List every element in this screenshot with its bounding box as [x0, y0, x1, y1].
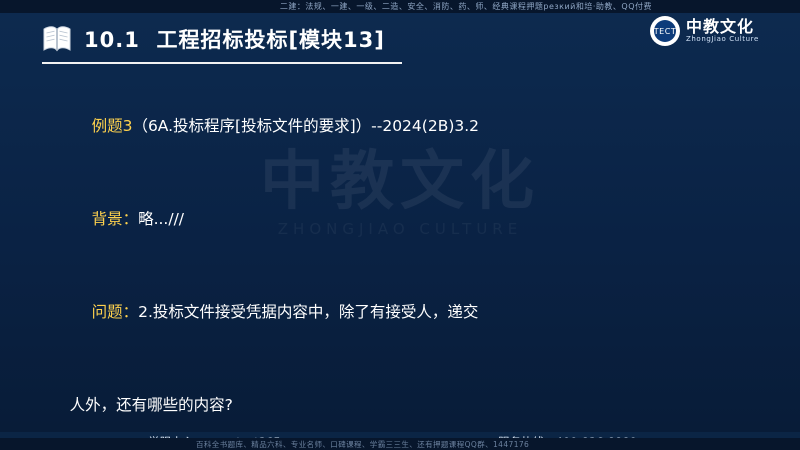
brand-logo: TECT 中教文化 ZhongJiao Culture	[650, 14, 790, 48]
background-line: 背景：略...///	[62, 173, 762, 266]
bottom-marquee-bar: 百科全书题库、精品六科、专业名师、口碑课程、学霸三三生、还有押题课程QQ群、14…	[0, 438, 800, 450]
top-marquee-bar: 二建：法规、一建、一级、二造、安全、消防、药、师、经典课程押题резкий和培·…	[0, 0, 800, 13]
background-label: 背景：	[92, 210, 139, 228]
title-label: 工程招标投标[模块13]	[156, 28, 384, 52]
example-text: （6A.投标程序[投标文件的要求]）--2024(2B)3.2	[132, 117, 479, 135]
logo-text: 中教文化 ZhongJiao Culture	[686, 19, 759, 43]
example-line: 例题3（6A.投标程序[投标文件的要求]）--2024(2B)3.2	[62, 80, 762, 173]
question-text: 2.投标文件接受凭据内容中，除了有接受人，递交	[138, 303, 478, 321]
background-text: 略...///	[138, 210, 184, 228]
title-underline	[42, 62, 402, 64]
top-marquee-text: 二建：法规、一建、一级、二造、安全、消防、药、师、经典课程押题резкий和培·…	[280, 1, 652, 12]
slide-title: 10.1 工程招标投标[模块13]	[42, 24, 385, 54]
example-label: 例题3	[92, 117, 133, 135]
slide-body: 例题3（6A.投标程序[投标文件的要求]）--2024(2B)3.2 背景：略.…	[62, 80, 762, 450]
book-icon	[42, 25, 72, 53]
logo-mark-label: TECT	[654, 20, 676, 42]
logo-name-en: ZhongJiao Culture	[686, 36, 759, 43]
question-text-2: 人外，还有哪些的内容?	[70, 396, 233, 414]
logo-mark-icon: TECT	[650, 16, 680, 46]
bottom-marquee-text: 百科全书题库、精品六科、专业名师、口碑课程、学霸三三生、还有押题课程QQ群、14…	[196, 439, 529, 450]
title-number: 10.1	[84, 28, 140, 52]
logo-name-cn: 中教文化	[686, 19, 759, 36]
question-line: 问题：2.投标文件接受凭据内容中，除了有接受人，递交	[62, 266, 762, 359]
question-label: 问题：	[92, 303, 139, 321]
slide-page: 二建：法规、一建、一级、二造、安全、消防、药、师、经典课程押题резкий和培·…	[0, 0, 800, 450]
page-title: 10.1 工程招标投标[模块13]	[84, 24, 385, 54]
